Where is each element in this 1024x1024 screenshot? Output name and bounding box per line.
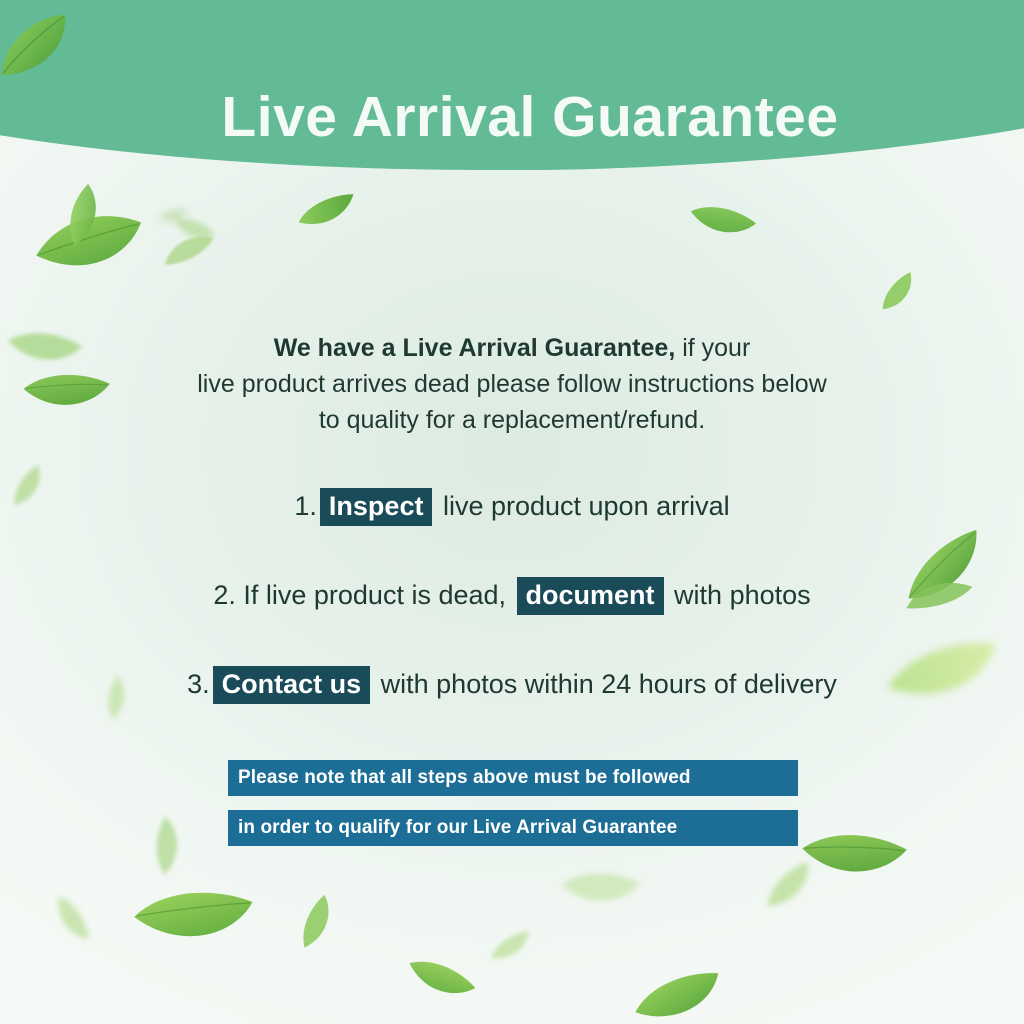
leaf-icon — [282, 887, 354, 961]
intro-line-1: We have a Live Arrival Guarantee, if you… — [0, 330, 1024, 366]
intro-line-2: live product arrives dead please follow … — [0, 366, 1024, 402]
step-1-highlight[interactable]: Inspect — [320, 488, 433, 526]
leaf-icon — [680, 184, 763, 261]
leaf-icon — [483, 922, 539, 974]
live-arrival-guarantee-poster: Live Arrival Guarantee We have a Live Ar… — [0, 0, 1024, 1024]
step-1-number: 1. — [294, 491, 317, 521]
step-3-number: 3. — [187, 669, 210, 699]
step-item-3: 3.Contact us with photos within 24 hours… — [0, 666, 1024, 704]
leaf-icon — [554, 852, 644, 927]
steps-list: 1.Inspect live product upon arrival 2. I… — [0, 488, 1024, 755]
step-2-number: 2. — [213, 580, 236, 610]
leaf-icon — [127, 872, 257, 966]
step-3-after: with photos within 24 hours of delivery — [373, 669, 837, 699]
notice-banner-2: in order to qualify for our Live Arrival… — [228, 810, 798, 846]
step-2-after: with photos — [667, 580, 811, 610]
notice-banners: Please note that all steps above must be… — [228, 760, 798, 860]
page-title: Live Arrival Guarantee — [0, 86, 1024, 149]
leaf-icon — [34, 885, 105, 952]
leaf-icon — [627, 962, 728, 1024]
intro-paragraph: We have a Live Arrival Guarantee, if you… — [0, 330, 1024, 438]
step-1-after: live product upon arrival — [435, 491, 729, 521]
leaf-icon — [867, 263, 930, 326]
step-3-highlight[interactable]: Contact us — [213, 666, 371, 704]
step-item-1: 1.Inspect live product upon arrival — [0, 488, 1024, 526]
intro-line-1-rest: if your — [675, 334, 750, 362]
step-2-highlight[interactable]: document — [517, 577, 664, 615]
step-2-before: If live product is dead, — [236, 580, 514, 610]
leaf-icon — [292, 184, 362, 242]
step-item-2: 2. If live product is dead, document wit… — [0, 577, 1024, 615]
leaf-icon — [138, 812, 200, 881]
notice-banner-1: Please note that all steps above must be… — [228, 760, 798, 796]
leaf-icon — [158, 204, 188, 230]
intro-line-3: to quality for a replacement/refund. — [0, 402, 1024, 438]
intro-bold-lead: We have a Live Arrival Guarantee, — [274, 334, 676, 362]
leaf-icon — [393, 935, 485, 1024]
